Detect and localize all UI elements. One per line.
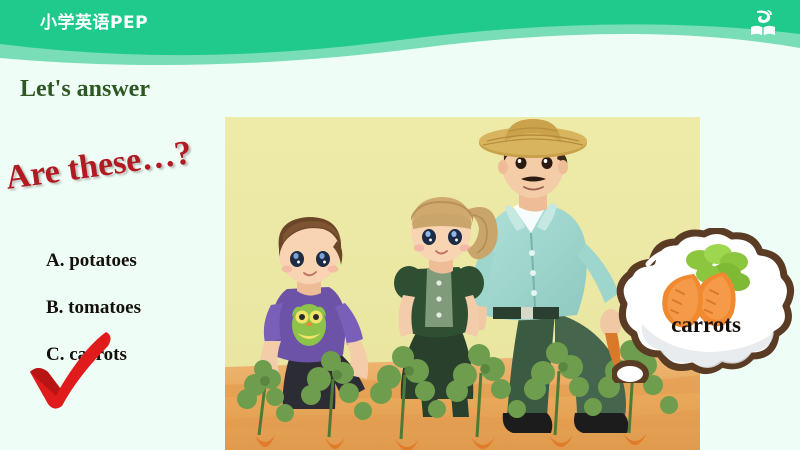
answer-options-list: A. potatoes B. tomatoes C. carrots	[46, 250, 141, 366]
bubble-word-label: carrots	[640, 312, 772, 338]
question-prompt: Are these…?	[3, 134, 194, 198]
open-book-logo	[748, 8, 778, 38]
answer-option-c[interactable]: C. carrots	[46, 344, 141, 366]
header-title: 小学英语PEP	[40, 8, 148, 33]
page-title: Let's answer	[20, 76, 150, 103]
answer-speech-bubble	[612, 228, 798, 383]
answer-option-a[interactable]: A. potatoes	[46, 250, 141, 272]
slide-root: 小学英语PEP Let's answer Are these…? A. pota…	[0, 0, 800, 450]
answer-option-b[interactable]: B. tomatoes	[46, 297, 141, 319]
